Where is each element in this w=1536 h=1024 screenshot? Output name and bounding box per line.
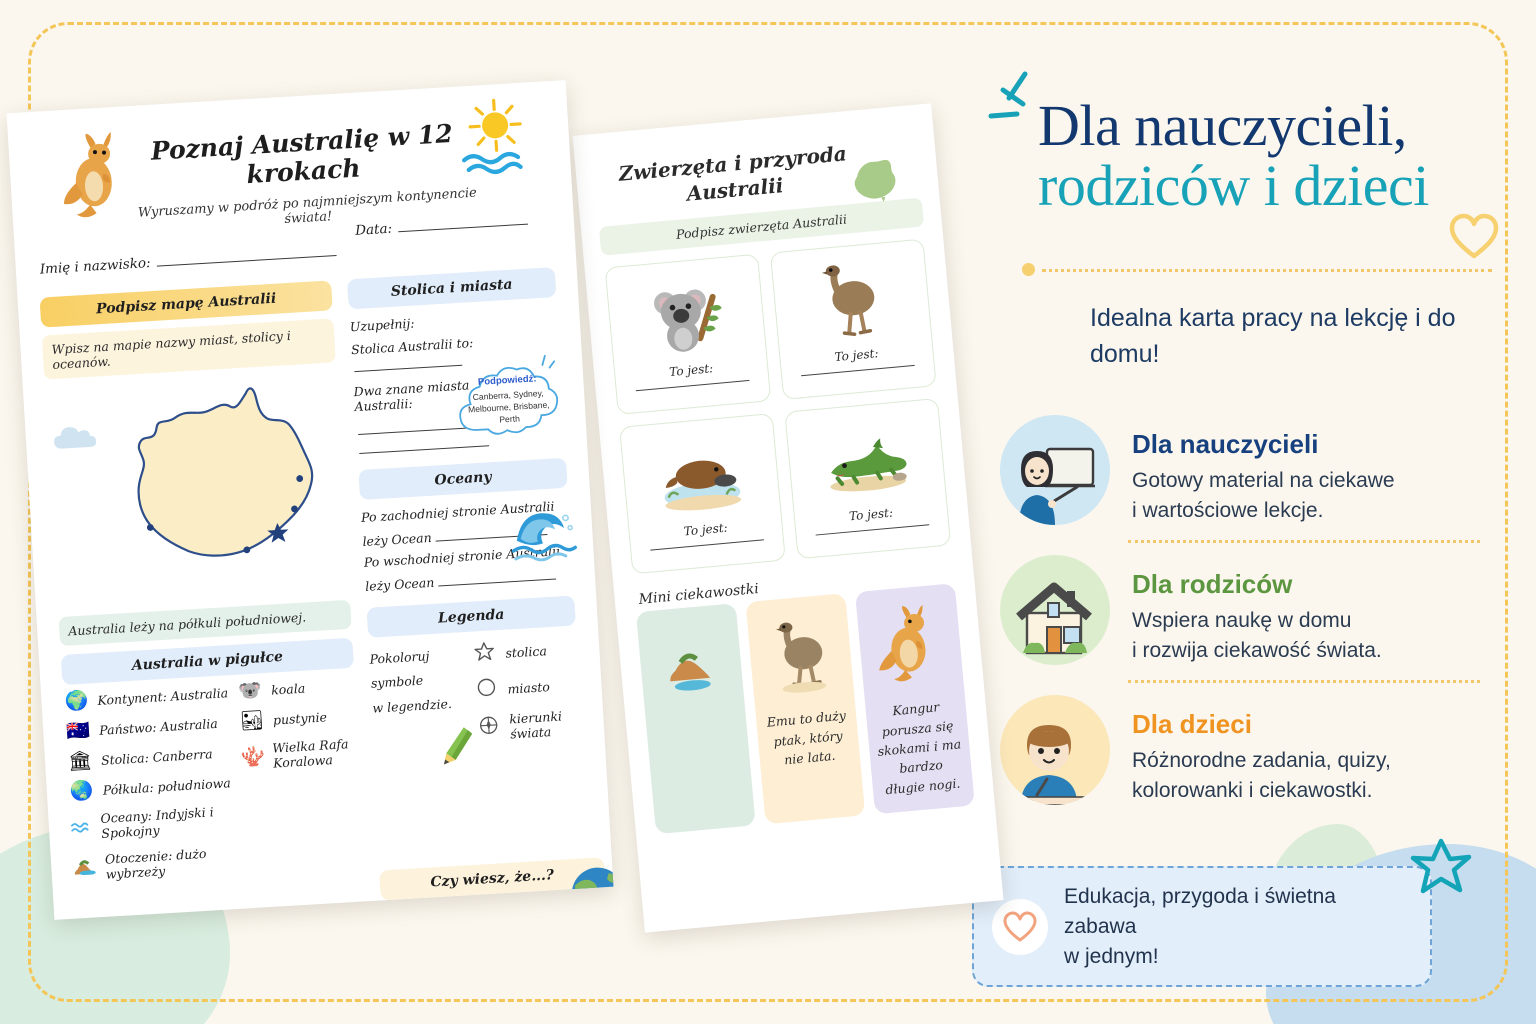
feature-text: Dla dzieci Różnorodne zadania, quizy, ko… [1132,695,1391,806]
panel-divider-top [1022,262,1492,276]
coral-icon: 🪸 [241,747,266,767]
mini-facts-grid: Emu to duży ptak, który nie lata. [630,583,981,835]
fact-text: Otoczenie: dużo wybrzeży [105,844,243,882]
worksheet1-columns: Podpisz mapę Australii Wpisz na mapie na… [40,267,591,895]
kangaroo-icon [863,594,957,697]
globe-icon: 🌏 [68,781,95,802]
fact-text: Półkula: południowa [102,775,231,798]
heart-outline-icon [1448,212,1500,265]
animal-card-caption: To jest: [683,521,728,539]
worksheet-australia[interactable]: Poznaj Australię w 12 krokach Wyruszamy … [7,80,614,920]
platypus-icon [655,425,747,524]
headline-line-1: Dla nauczycieli, [1038,96,1508,155]
did-you-know-body: Australia jest jednocześnie kontynentem … [381,897,596,920]
legend-label: kierunki świata [509,707,583,741]
circle-outline-icon [475,676,499,703]
feature-text: Dla nauczycieli Gotowy material na cieka… [1132,415,1395,526]
facts-list: 🌍 Kontynent: Australia 🇦🇺 Państwo: Austr… [63,676,366,895]
animal-card[interactable]: To jest: [784,398,951,559]
hint-cloud-content: Podpowiedź: Canberra, Sydney, Melbourne,… [451,372,566,429]
date-input-line[interactable] [398,224,528,233]
fact-text: pustynie [273,709,328,727]
animal-card[interactable]: To jest: [605,254,772,415]
mini-fact-card: Kangur porusza się skokami i ma bardzo d… [855,583,975,814]
animal-card-caption: To jest: [669,361,714,379]
hint-cloud: Podpowiedź: Canberra, Sydney, Melbourne,… [450,349,567,451]
sun-and-waves-icon [457,96,536,183]
name-label: Imię i nazwisko: [39,255,151,278]
desert-icon: 🏜 [238,711,265,732]
fact-text: Oceany: Indyjski i Spokojny [100,803,240,841]
feature-desc: Różnorodne zadania, quizy, kolorowanki i… [1132,746,1391,806]
facts-column-right: 🐨 koala 🏜 pustynie 🪸 Wielka Rafa Koralow… [237,676,367,885]
oceans-line-4-prefix: leży Ocean [365,575,435,594]
fact-text: Państwo: Australia [99,716,218,738]
bottom-banner: Edukacja, przygoda i świetna zabawa w je… [972,866,1432,987]
sparkle-lines-icon [985,68,1043,135]
cities-answer-line-1[interactable] [354,365,462,372]
worksheet-animals[interactable]: Zwierzęta i przyroda Australii Podpisz z… [572,103,1003,932]
legend-item: stolica [473,635,578,667]
oceans-line-2-prefix: leży Ocean [362,530,432,549]
legend-item: kierunki świata [477,707,583,743]
feature-title: Dla rodziców [1132,569,1382,600]
koala-icon: 🐨 [237,681,264,702]
answer-line[interactable] [650,539,764,550]
legend-section-header: Legenda [366,596,575,638]
oceans-section-body: Po zachodniej stronie Australii leży Oce… [361,498,574,594]
star-outline-icon [473,640,497,667]
info-panel: Dla nauczycieli, rodziców i dzieci Ideal… [980,0,1536,1024]
mini-fact-text: Kangur porusza się skokami i ma bardzo d… [872,696,966,800]
feature-desc: Gotowy material na ciekawe i wartościowe… [1132,466,1395,526]
house-icon [1000,555,1110,665]
headline-line-2: rodziców i dzieci [1038,155,1508,218]
pencil-icon [440,725,476,770]
legend-label: stolica [505,643,547,660]
wave-big-icon [509,503,579,568]
kangaroo-icon [60,130,135,225]
animal-card-caption: To jest: [834,346,879,364]
panel-subtitle: Idealna karta pracy na lekcję i do domu! [1090,300,1510,373]
fact-item: 🪸 Wielka Rafa Koralowa [240,736,360,773]
fact-text: Wielka Rafa Koralowa [272,736,360,771]
legend-instruction: Pokoloruj symbole w legendzie. [369,642,467,721]
animal-card-caption: To jest: [849,506,894,524]
name-input-line[interactable] [157,255,337,267]
fact-item: Oceany: Indyjski i Spokojny [70,803,239,843]
poster-canvas: Zwierzęta i przyroda Australii Podpisz z… [0,0,1536,1024]
left-column: Podpisz mapę Australii Wpisz na mapie na… [40,280,367,894]
fact-item: 🏛 Stolica: Canberra [67,743,236,772]
oceans-input-line-2[interactable] [438,579,556,587]
animal-card[interactable]: To jest: [619,413,786,574]
cloud-icon [53,425,97,456]
compass-icon [477,714,501,741]
panel-headline: Dla nauczycieli, rodziców i dzieci [1038,96,1508,218]
animal-card-grid: To jest: To jest: [598,226,958,579]
child-writing-icon [1000,695,1110,805]
answer-line[interactable] [816,524,930,535]
mini-fact-card: Emu to duży ptak, który nie lata. [745,593,865,824]
right-column: Stolica i miasta Podpowiedź: Canb [347,267,590,876]
teacher-icon [1000,415,1110,525]
legend-instruction-wrap: Pokoloruj symbole w legendzie. [369,642,469,759]
answer-line[interactable] [636,380,750,391]
legend-label: miasto [507,679,550,696]
feature-desc: Wspiera naukę w domu i rozwija ciekawość… [1132,606,1382,666]
australia-map-outline[interactable] [89,366,352,602]
coast-icon [73,856,98,879]
fact-item: Otoczenie: dużo wybrzeży [73,844,242,884]
map-footnote: Australia leży na półkuli południowej. [59,600,352,646]
legend-items: stolica miasto [473,635,583,753]
australia-green-icon [842,152,905,212]
fact-text: Kontynent: Australia [97,685,228,708]
mini-fact-text [653,715,739,723]
divider-line [1042,269,1492,272]
star-outline-icon [1410,837,1472,902]
bank-icon: 🏛 [67,751,94,772]
fact-text: Stolica: Canberra [101,746,213,768]
globe-icon: 🌍 [63,691,90,712]
feature-separator [1128,680,1480,683]
animal-card[interactable]: To jest: [770,239,937,400]
flag-icon: 🇦🇺 [65,721,92,742]
feature-title: Dla dzieci [1132,709,1391,740]
mini-fact-card [636,603,756,834]
feature-title: Dla nauczycieli [1132,429,1395,460]
emu-icon [753,604,847,707]
australia-map-area[interactable] [45,366,350,609]
feature-text: Dla rodziców Wspiera naukę w domu i rozw… [1132,555,1382,666]
cities-section-body: Podpowiedź: Canberra, Sydney, Melbourne,… [349,297,565,454]
feature-list: Dla nauczycieli Gotowy material na cieka… [1000,405,1520,817]
banner-text: Edukacja, przygoda i świetna zabawa w je… [1064,882,1412,971]
facts-column-left: 🌍 Kontynent: Australia 🇦🇺 Państwo: Austr… [63,683,243,895]
legend-body: Pokoloruj symbole w legendzie. [369,635,583,759]
oceans-answer-2[interactable]: leży Ocean [365,567,574,594]
fact-item: 🌍 Kontynent: Australia [63,683,232,712]
emu-icon [806,251,898,350]
hint-body: Canberra, Sydney, Melbourne, Brisbane, P… [464,386,554,427]
heart-icon [992,899,1048,955]
name-field[interactable]: Imię i nazwisko: [39,244,336,278]
feature-children: Dla dzieci Różnorodne zadania, quizy, ko… [1000,685,1520,818]
oceans-section-header: Oceany [358,458,567,500]
fact-item: 🏜 pustynie [238,706,357,732]
feature-separator [1128,540,1480,543]
cities-prompt: Uzupełnij: [349,307,558,334]
fact-text: koala [271,681,306,698]
fact-item: 🐨 koala [237,676,356,702]
crocodile-icon [820,410,912,509]
fact-item: 🌏 Półkula: południowa [68,773,237,802]
date-label: Data: [355,221,393,239]
answer-line[interactable] [801,365,915,376]
mini-fact-text: Emu to duży ptak, który nie lata. [763,705,854,771]
waves-icon [70,817,93,837]
feature-teachers: Dla nauczycieli Gotowy material na cieka… [1000,405,1520,538]
koala-icon [640,266,732,365]
legend-item: miasto [475,671,580,703]
divider-dot [1022,263,1035,276]
feature-parents: Dla rodziców Wspiera naukę w domu i rozw… [1000,545,1520,678]
globe-stand-icon [566,860,613,920]
fact-item: 🇦🇺 Państwo: Australia [65,713,234,742]
coast-icon [644,614,738,717]
